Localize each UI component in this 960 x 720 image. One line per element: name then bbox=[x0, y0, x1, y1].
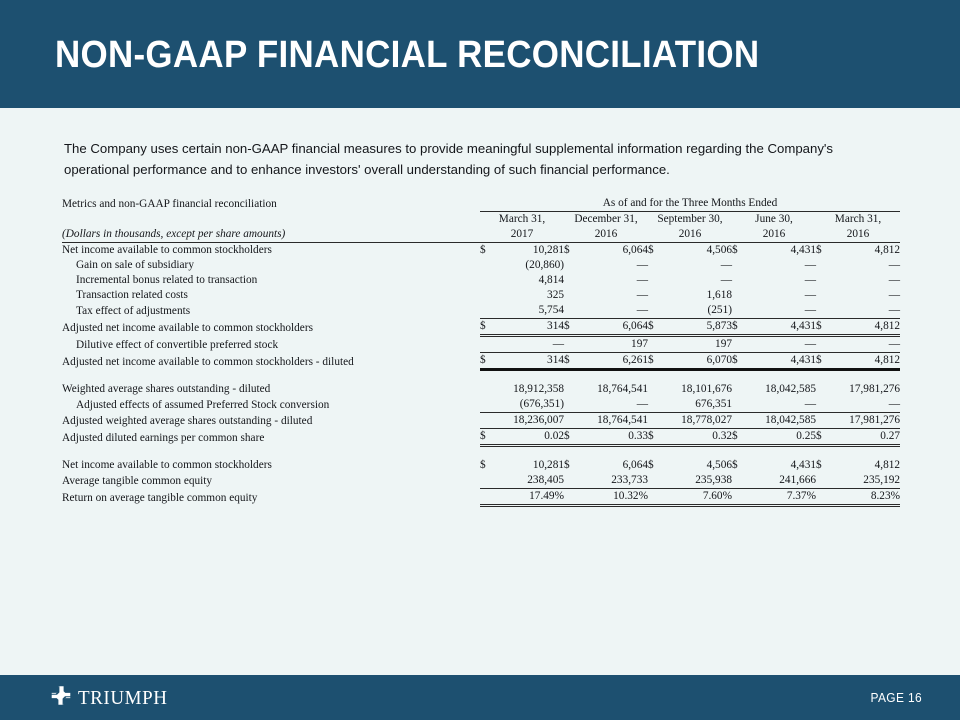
row-currency-symbol bbox=[564, 382, 578, 397]
row-value: 4,431 bbox=[746, 243, 816, 259]
row-label: Adjusted weighted average shares outstan… bbox=[62, 413, 480, 429]
row-currency-symbol bbox=[564, 273, 578, 288]
row-value: 10,281 bbox=[494, 458, 564, 473]
table-row: Tax effect of adjustments5,754—(251)—— bbox=[62, 303, 900, 319]
table-row: Adjusted diluted earnings per common sha… bbox=[62, 429, 900, 446]
row-value: 6,064 bbox=[578, 243, 648, 259]
row-value: (251) bbox=[662, 303, 732, 319]
table-header-row-year: (Dollars in thousands, except per share … bbox=[62, 227, 900, 243]
row-currency-symbol: $ bbox=[480, 353, 494, 370]
row-value: 197 bbox=[578, 336, 648, 353]
row-value: 6,064 bbox=[578, 458, 648, 473]
row-value: 17,981,276 bbox=[830, 382, 900, 397]
table-row: Adjusted weighted average shares outstan… bbox=[62, 413, 900, 429]
page-number: PAGE 16 bbox=[870, 690, 922, 705]
table-body-shares: Weighted average shares outstanding - di… bbox=[62, 382, 900, 446]
row-value: — bbox=[830, 303, 900, 319]
row-value: — bbox=[662, 258, 732, 273]
row-value: 1,618 bbox=[662, 288, 732, 303]
row-label: Adjusted net income available to common … bbox=[62, 319, 480, 336]
row-currency-symbol bbox=[732, 288, 746, 303]
row-value: 10,281 bbox=[494, 243, 564, 259]
row-currency-symbol bbox=[648, 397, 662, 413]
row-value: — bbox=[746, 273, 816, 288]
row-currency-symbol bbox=[648, 336, 662, 353]
row-currency-symbol bbox=[648, 489, 662, 506]
row-currency-symbol bbox=[564, 473, 578, 489]
row-label: Adjusted diluted earnings per common sha… bbox=[62, 429, 480, 446]
table-spacer-2 bbox=[62, 446, 900, 459]
row-label: Net income available to common stockhold… bbox=[62, 243, 480, 259]
row-value: 235,938 bbox=[662, 473, 732, 489]
row-value: — bbox=[578, 303, 648, 319]
row-value: — bbox=[746, 288, 816, 303]
row-value: 8.23% bbox=[830, 489, 900, 506]
row-currency-symbol bbox=[480, 397, 494, 413]
row-label: Gain on sale of subsidiary bbox=[62, 258, 480, 273]
column-header-month-0: March 31, bbox=[480, 212, 564, 228]
row-currency-symbol bbox=[816, 258, 830, 273]
row-value: 0.25 bbox=[746, 429, 816, 446]
row-value: 325 bbox=[494, 288, 564, 303]
row-value: — bbox=[830, 397, 900, 413]
row-currency-symbol: $ bbox=[564, 243, 578, 259]
row-currency-symbol bbox=[732, 413, 746, 429]
row-label: Average tangible common equity bbox=[62, 473, 480, 489]
row-currency-symbol bbox=[480, 473, 494, 489]
row-currency-symbol bbox=[564, 489, 578, 506]
table-row: Adjusted net income available to common … bbox=[62, 319, 900, 336]
row-currency-symbol: $ bbox=[564, 429, 578, 446]
triumph-cross-icon bbox=[48, 685, 74, 711]
row-currency-symbol bbox=[816, 489, 830, 506]
row-currency-symbol bbox=[732, 258, 746, 273]
row-value: 0.33 bbox=[578, 429, 648, 446]
table-spacer-1 bbox=[62, 370, 900, 383]
units-note: (Dollars in thousands, except per share … bbox=[62, 227, 480, 243]
row-currency-symbol bbox=[816, 413, 830, 429]
row-value: 233,733 bbox=[578, 473, 648, 489]
row-value: — bbox=[578, 397, 648, 413]
row-currency-symbol: $ bbox=[732, 353, 746, 370]
row-value: — bbox=[746, 258, 816, 273]
table-row: Adjusted net income available to common … bbox=[62, 353, 900, 370]
row-currency-symbol bbox=[648, 273, 662, 288]
row-value: 18,101,676 bbox=[662, 382, 732, 397]
row-currency-symbol bbox=[648, 413, 662, 429]
row-value: 17.49% bbox=[494, 489, 564, 506]
row-currency-symbol bbox=[732, 273, 746, 288]
column-header-year-1: 2016 bbox=[564, 227, 648, 243]
row-value: — bbox=[746, 303, 816, 319]
row-currency-symbol bbox=[732, 489, 746, 506]
row-value: 18,764,541 bbox=[578, 413, 648, 429]
row-currency-symbol bbox=[480, 413, 494, 429]
row-value: — bbox=[830, 288, 900, 303]
row-label: Dilutive effect of convertible preferred… bbox=[62, 336, 480, 353]
table-row: Average tangible common equity238,405233… bbox=[62, 473, 900, 489]
row-value: — bbox=[662, 273, 732, 288]
row-label: Tax effect of adjustments bbox=[62, 303, 480, 319]
row-currency-symbol bbox=[480, 273, 494, 288]
column-header-year-2: 2016 bbox=[648, 227, 732, 243]
row-currency-symbol: $ bbox=[648, 319, 662, 336]
row-label: Incremental bonus related to transaction bbox=[62, 273, 480, 288]
row-value: 18,042,585 bbox=[746, 413, 816, 429]
row-value: — bbox=[578, 258, 648, 273]
row-value: 5,873 bbox=[662, 319, 732, 336]
row-value: — bbox=[830, 258, 900, 273]
row-value: — bbox=[578, 288, 648, 303]
row-value: 4,506 bbox=[662, 458, 732, 473]
row-currency-symbol: $ bbox=[480, 319, 494, 336]
row-currency-symbol: $ bbox=[816, 243, 830, 259]
table-row: Dilutive effect of convertible preferred… bbox=[62, 336, 900, 353]
row-currency-symbol bbox=[564, 413, 578, 429]
row-currency-symbol bbox=[732, 397, 746, 413]
row-value: 238,405 bbox=[494, 473, 564, 489]
row-value: — bbox=[746, 397, 816, 413]
table-body-rotce: Net income available to common stockhold… bbox=[62, 458, 900, 506]
row-currency-symbol bbox=[480, 382, 494, 397]
row-currency-symbol: $ bbox=[732, 243, 746, 259]
row-currency-symbol: $ bbox=[564, 353, 578, 370]
row-value: 6,070 bbox=[662, 353, 732, 370]
row-currency-symbol: $ bbox=[732, 458, 746, 473]
table-header-row-month: March 31, December 31, September 30, Jun… bbox=[62, 212, 900, 228]
column-header-year-4: 2016 bbox=[816, 227, 900, 243]
intro-paragraph: The Company uses certain non-GAAP financ… bbox=[64, 138, 864, 180]
row-value: 0.02 bbox=[494, 429, 564, 446]
row-label: Transaction related costs bbox=[62, 288, 480, 303]
row-currency-symbol: $ bbox=[480, 429, 494, 446]
non-gaap-reconciliation-table: Metrics and non-GAAP financial reconcili… bbox=[62, 196, 900, 507]
row-currency-symbol bbox=[732, 336, 746, 353]
table-row: Incremental bonus related to transaction… bbox=[62, 273, 900, 288]
row-currency-symbol bbox=[480, 258, 494, 273]
row-value: 0.32 bbox=[662, 429, 732, 446]
row-currency-symbol bbox=[732, 303, 746, 319]
row-currency-symbol bbox=[480, 336, 494, 353]
row-value: 6,064 bbox=[578, 319, 648, 336]
row-value: — bbox=[830, 336, 900, 353]
table-row: Net income available to common stockhold… bbox=[62, 243, 900, 259]
row-currency-symbol: $ bbox=[648, 458, 662, 473]
footer-band: TRIUMPH PAGE 16 bbox=[0, 675, 960, 720]
column-header-month-3: June 30, bbox=[732, 212, 816, 228]
column-header-year-0: 2017 bbox=[480, 227, 564, 243]
row-currency-symbol bbox=[816, 473, 830, 489]
row-currency-symbol bbox=[816, 382, 830, 397]
row-value: 4,812 bbox=[830, 458, 900, 473]
row-label: Adjusted effects of assumed Preferred St… bbox=[62, 397, 480, 413]
row-currency-symbol: $ bbox=[732, 429, 746, 446]
row-currency-symbol: $ bbox=[648, 353, 662, 370]
row-currency-symbol bbox=[564, 258, 578, 273]
row-value: 18,236,007 bbox=[494, 413, 564, 429]
table-row: Weighted average shares outstanding - di… bbox=[62, 382, 900, 397]
metrics-title: Metrics and non-GAAP financial reconcili… bbox=[62, 196, 480, 212]
row-currency-symbol: $ bbox=[648, 429, 662, 446]
row-currency-symbol bbox=[564, 303, 578, 319]
table-row: Return on average tangible common equity… bbox=[62, 489, 900, 506]
row-value: 6,261 bbox=[578, 353, 648, 370]
row-currency-symbol: $ bbox=[480, 458, 494, 473]
row-value: 4,431 bbox=[746, 458, 816, 473]
row-value: 314 bbox=[494, 319, 564, 336]
row-currency-symbol bbox=[732, 382, 746, 397]
row-value: (20,860) bbox=[494, 258, 564, 273]
row-value: 18,042,585 bbox=[746, 382, 816, 397]
row-currency-symbol: $ bbox=[816, 319, 830, 336]
row-currency-symbol bbox=[480, 303, 494, 319]
row-currency-symbol bbox=[648, 382, 662, 397]
row-value: 197 bbox=[662, 336, 732, 353]
logo-wordmark: TRIUMPH bbox=[78, 687, 168, 710]
row-value: — bbox=[746, 336, 816, 353]
row-currency-symbol bbox=[816, 397, 830, 413]
page-title: NON-GAAP FINANCIAL RECONCILIATION bbox=[55, 34, 759, 77]
row-currency-symbol bbox=[816, 336, 830, 353]
row-value: 7.37% bbox=[746, 489, 816, 506]
column-header-month-4: March 31, bbox=[816, 212, 900, 228]
financial-table-container: Metrics and non-GAAP financial reconcili… bbox=[62, 196, 900, 507]
table-row: Gain on sale of subsidiary(20,860)———— bbox=[62, 258, 900, 273]
row-value: 10.32% bbox=[578, 489, 648, 506]
row-currency-symbol bbox=[564, 336, 578, 353]
row-currency-symbol bbox=[564, 397, 578, 413]
row-value: 4,812 bbox=[830, 353, 900, 370]
row-currency-symbol bbox=[648, 258, 662, 273]
row-value: 18,912,358 bbox=[494, 382, 564, 397]
table-row: Transaction related costs325—1,618—— bbox=[62, 288, 900, 303]
row-currency-symbol bbox=[816, 303, 830, 319]
row-value: 314 bbox=[494, 353, 564, 370]
row-label: Return on average tangible common equity bbox=[62, 489, 480, 506]
row-value: 5,754 bbox=[494, 303, 564, 319]
row-value: 235,192 bbox=[830, 473, 900, 489]
row-value: 4,814 bbox=[494, 273, 564, 288]
row-currency-symbol: $ bbox=[564, 458, 578, 473]
row-value: 4,431 bbox=[746, 319, 816, 336]
row-value: 241,666 bbox=[746, 473, 816, 489]
row-currency-symbol bbox=[816, 288, 830, 303]
title-band: NON-GAAP FINANCIAL RECONCILIATION bbox=[0, 0, 960, 108]
row-currency-symbol: $ bbox=[816, 458, 830, 473]
row-value: 4,812 bbox=[830, 319, 900, 336]
row-label: Net income available to common stockhold… bbox=[62, 458, 480, 473]
row-currency-symbol: $ bbox=[816, 353, 830, 370]
row-currency-symbol bbox=[648, 473, 662, 489]
row-value: 4,506 bbox=[662, 243, 732, 259]
row-currency-symbol bbox=[816, 273, 830, 288]
row-value: 17,981,276 bbox=[830, 413, 900, 429]
row-value: — bbox=[578, 273, 648, 288]
row-label: Weighted average shares outstanding - di… bbox=[62, 382, 480, 397]
row-value: 7.60% bbox=[662, 489, 732, 506]
column-header-year-3: 2016 bbox=[732, 227, 816, 243]
table-header-row-span: Metrics and non-GAAP financial reconcili… bbox=[62, 196, 900, 212]
row-value: (676,351) bbox=[494, 397, 564, 413]
row-value: 0.27 bbox=[830, 429, 900, 446]
row-currency-symbol: $ bbox=[816, 429, 830, 446]
row-currency-symbol: $ bbox=[480, 243, 494, 259]
row-currency-symbol bbox=[564, 288, 578, 303]
row-currency-symbol bbox=[648, 288, 662, 303]
brand-logo: TRIUMPH bbox=[48, 685, 172, 711]
period-header: As of and for the Three Months Ended bbox=[480, 196, 900, 212]
row-value: 4,812 bbox=[830, 243, 900, 259]
row-value: 676,351 bbox=[662, 397, 732, 413]
row-currency-symbol bbox=[480, 489, 494, 506]
row-value: 18,764,541 bbox=[578, 382, 648, 397]
row-currency-symbol: $ bbox=[732, 319, 746, 336]
table-body-reconciliation: Net income available to common stockhold… bbox=[62, 243, 900, 370]
row-label: Adjusted net income available to common … bbox=[62, 353, 480, 370]
row-value: 4,431 bbox=[746, 353, 816, 370]
row-currency-symbol: $ bbox=[564, 319, 578, 336]
column-header-month-2: September 30, bbox=[648, 212, 732, 228]
table-row: Net income available to common stockhold… bbox=[62, 458, 900, 473]
column-header-month-1: December 31, bbox=[564, 212, 648, 228]
row-currency-symbol bbox=[480, 288, 494, 303]
row-value: 18,778,027 bbox=[662, 413, 732, 429]
row-currency-symbol bbox=[732, 473, 746, 489]
row-currency-symbol bbox=[648, 303, 662, 319]
table-header-group: Metrics and non-GAAP financial reconcili… bbox=[62, 196, 900, 243]
row-value: — bbox=[830, 273, 900, 288]
table-row: Adjusted effects of assumed Preferred St… bbox=[62, 397, 900, 413]
row-value: — bbox=[494, 336, 564, 353]
row-currency-symbol: $ bbox=[648, 243, 662, 259]
